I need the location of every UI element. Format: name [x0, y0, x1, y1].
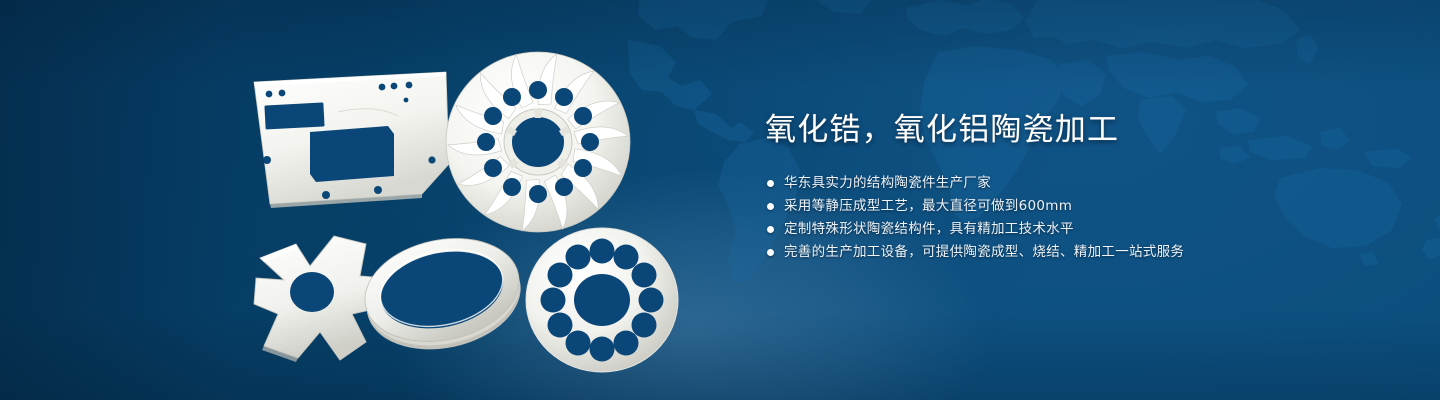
feature-text: 采用等静压成型工艺，最大直径可做到600mm — [784, 195, 1072, 218]
ceramic-ring — [352, 226, 532, 354]
feature-text: 定制特殊形状陶瓷结构件，具有精加工技术水平 — [784, 218, 1074, 241]
ceramic-impeller — [438, 44, 638, 239]
list-item: 采用等静压成型工艺，最大直径可做到600mm — [767, 195, 1184, 218]
bullet-dot-icon — [767, 203, 774, 210]
feature-text: 华东具实力的结构陶瓷件生产厂家 — [784, 172, 991, 195]
product-photo-group — [0, 0, 740, 400]
list-item: 完善的生产加工设备，可提供陶瓷成型、烧结、精加工一站式服务 — [767, 241, 1184, 264]
banner-title: 氧化锆，氧化铝陶瓷加工 — [765, 112, 1119, 149]
hero-banner: 氧化锆，氧化铝陶瓷加工 华东具实力的结构陶瓷件生产厂家 采用等静压成型工艺，最大… — [0, 0, 1440, 400]
bullet-dot-icon — [767, 226, 774, 233]
banner-text-block: 氧化锆，氧化铝陶瓷加工 华东具实力的结构陶瓷件生产厂家 采用等静压成型工艺，最大… — [765, 0, 1385, 400]
ceramic-plate — [246, 68, 456, 213]
feature-text: 完善的生产加工设备，可提供陶瓷成型、烧结、精加工一站式服务 — [784, 241, 1184, 264]
list-item: 华东具实力的结构陶瓷件生产厂家 — [767, 172, 1184, 195]
list-item: 定制特殊形状陶瓷结构件，具有精加工技术水平 — [767, 218, 1184, 241]
feature-list: 华东具实力的结构陶瓷件生产厂家 采用等静压成型工艺，最大直径可做到600mm 定… — [767, 172, 1184, 264]
ceramic-hole-disc — [518, 224, 686, 376]
bullet-dot-icon — [767, 249, 774, 256]
bullet-dot-icon — [767, 180, 774, 187]
